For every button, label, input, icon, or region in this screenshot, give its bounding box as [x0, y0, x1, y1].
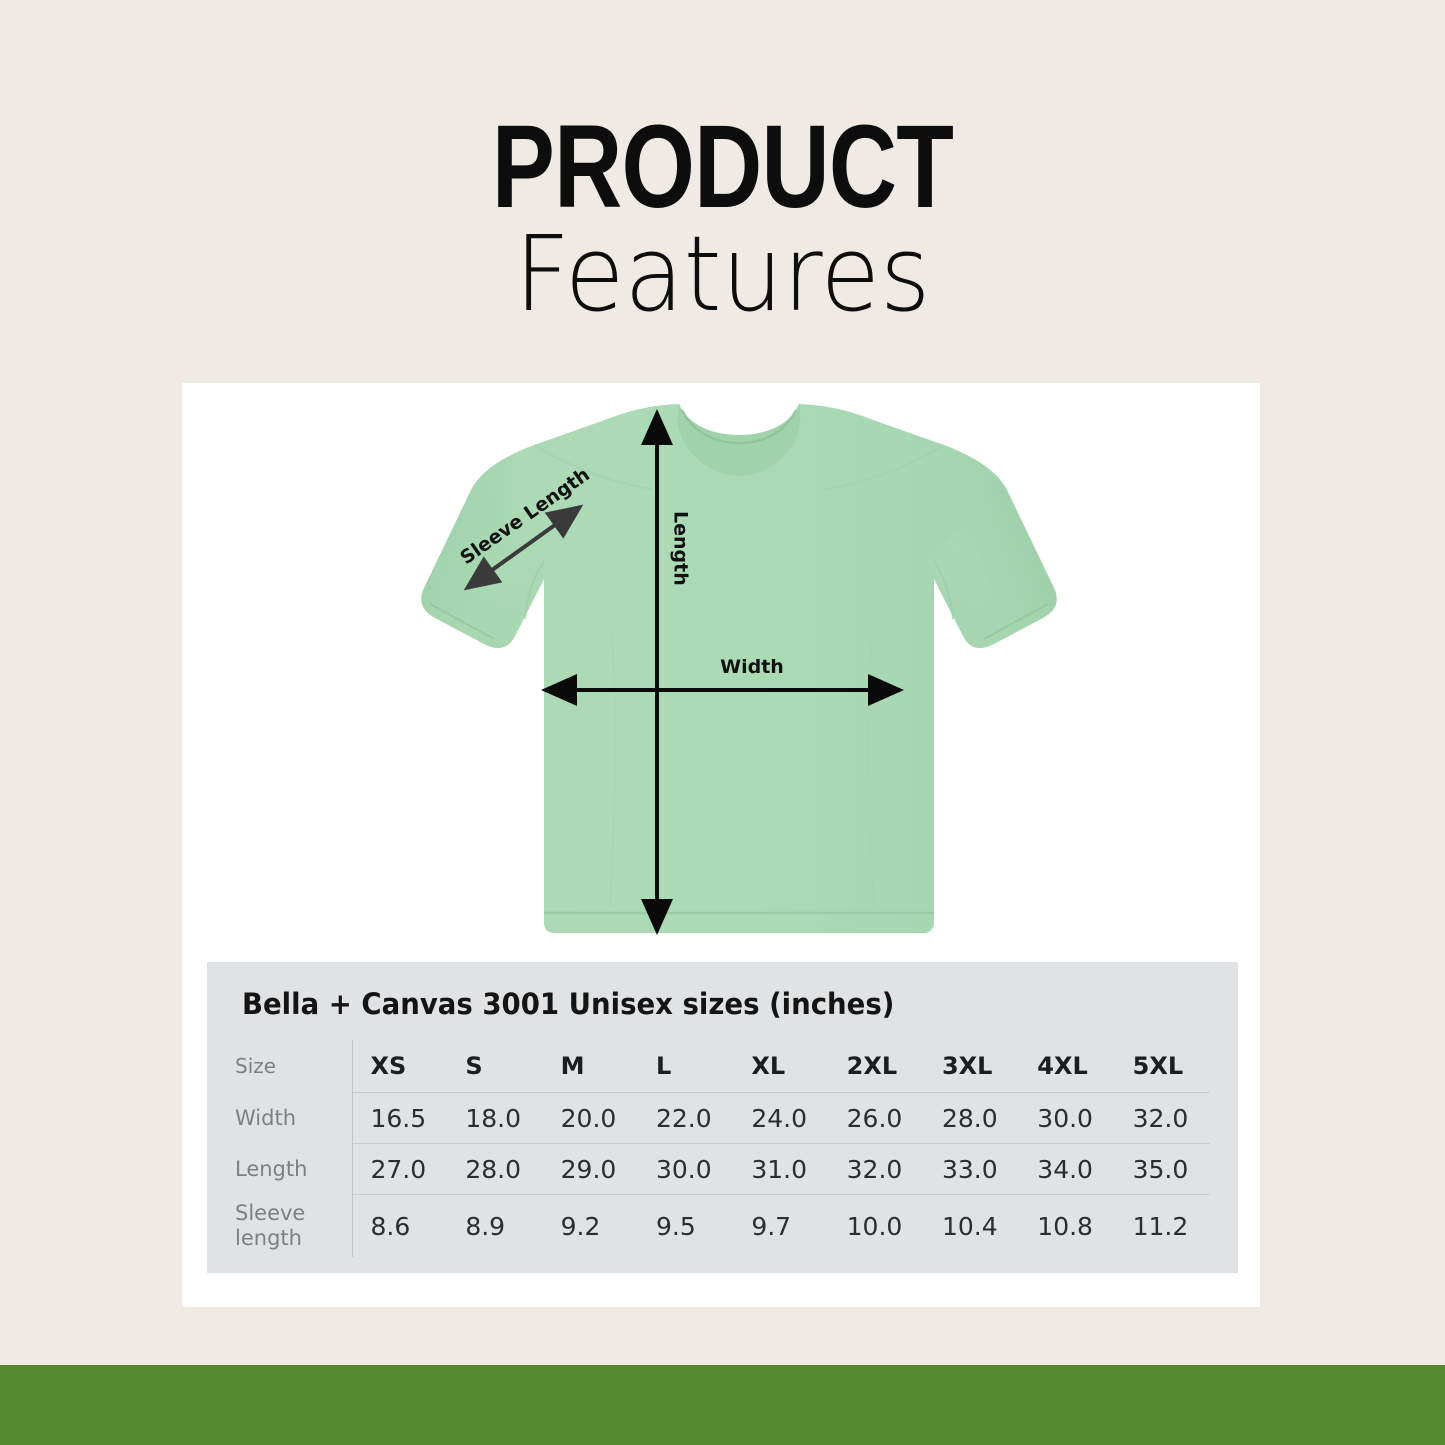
size-chart-table: Size XS S M L XL 2XL 3XL 4XL 5XL Width 1… — [235, 1040, 1210, 1257]
column-header-xl: XL — [733, 1040, 828, 1093]
table-row: Length 27.0 28.0 29.0 30.0 31.0 32.0 33.… — [235, 1144, 1210, 1195]
page-header: PRODUCT Features — [0, 0, 1445, 340]
cell-width-l: 22.0 — [638, 1093, 733, 1144]
cell-sleeve-xl: 9.7 — [733, 1195, 828, 1258]
size-chart-panel: Bella + Canvas 3001 Unisex sizes (inches… — [207, 962, 1238, 1273]
cell-width-m: 20.0 — [543, 1093, 638, 1144]
table-row: Sleevelength 8.6 8.9 9.2 9.5 9.7 10.0 10… — [235, 1195, 1210, 1258]
row-label-width: Width — [235, 1093, 352, 1144]
tshirt-measurement-diagram: Length Width Sleeve Length — [182, 383, 1260, 963]
row-label-sleeve-length: Sleevelength — [235, 1195, 352, 1258]
cell-sleeve-s: 8.9 — [447, 1195, 542, 1258]
cell-length-m: 29.0 — [543, 1144, 638, 1195]
cell-width-xs: 16.5 — [352, 1093, 447, 1144]
cell-length-4xl: 34.0 — [1019, 1144, 1114, 1195]
cell-length-5xl: 35.0 — [1115, 1144, 1210, 1195]
product-card: Length Width Sleeve Length Bella + Canva… — [182, 383, 1260, 1307]
column-header-m: M — [543, 1040, 638, 1093]
cell-sleeve-m: 9.2 — [543, 1195, 638, 1258]
bottom-accent-bar — [0, 1365, 1445, 1445]
size-chart-title: Bella + Canvas 3001 Unisex sizes (inches… — [242, 987, 894, 1021]
cell-length-3xl: 33.0 — [924, 1144, 1019, 1195]
cell-length-2xl: 32.0 — [829, 1144, 924, 1195]
column-header-4xl: 4XL — [1019, 1040, 1114, 1093]
cell-width-2xl: 26.0 — [829, 1093, 924, 1144]
page-title: PRODUCT — [145, 108, 1301, 226]
cell-width-5xl: 32.0 — [1115, 1093, 1210, 1144]
cell-sleeve-2xl: 10.0 — [829, 1195, 924, 1258]
cell-length-s: 28.0 — [447, 1144, 542, 1195]
column-header-3xl: 3XL — [924, 1040, 1019, 1093]
cell-width-s: 18.0 — [447, 1093, 542, 1144]
cell-width-4xl: 30.0 — [1019, 1093, 1114, 1144]
column-header-s: S — [447, 1040, 542, 1093]
table-header-row: Size XS S M L XL 2XL 3XL 4XL 5XL — [235, 1040, 1210, 1093]
header-size-label: Size — [235, 1040, 352, 1093]
cell-length-xs: 27.0 — [352, 1144, 447, 1195]
column-header-xs: XS — [352, 1040, 447, 1093]
cell-sleeve-xs: 8.6 — [352, 1195, 447, 1258]
table-row: Width 16.5 18.0 20.0 22.0 24.0 26.0 28.0… — [235, 1093, 1210, 1144]
cell-sleeve-4xl: 10.8 — [1019, 1195, 1114, 1258]
cell-width-xl: 24.0 — [733, 1093, 828, 1144]
cell-length-l: 30.0 — [638, 1144, 733, 1195]
cell-sleeve-5xl: 11.2 — [1115, 1195, 1210, 1258]
column-header-5xl: 5XL — [1115, 1040, 1210, 1093]
column-header-l: L — [638, 1040, 733, 1093]
cell-sleeve-l: 9.5 — [638, 1195, 733, 1258]
page-subtitle: Features — [51, 222, 1395, 326]
cell-width-3xl: 28.0 — [924, 1093, 1019, 1144]
row-label-length: Length — [235, 1144, 352, 1195]
column-header-2xl: 2XL — [829, 1040, 924, 1093]
tshirt-illustration — [182, 383, 1260, 963]
cell-length-xl: 31.0 — [733, 1144, 828, 1195]
cell-sleeve-3xl: 10.4 — [924, 1195, 1019, 1258]
